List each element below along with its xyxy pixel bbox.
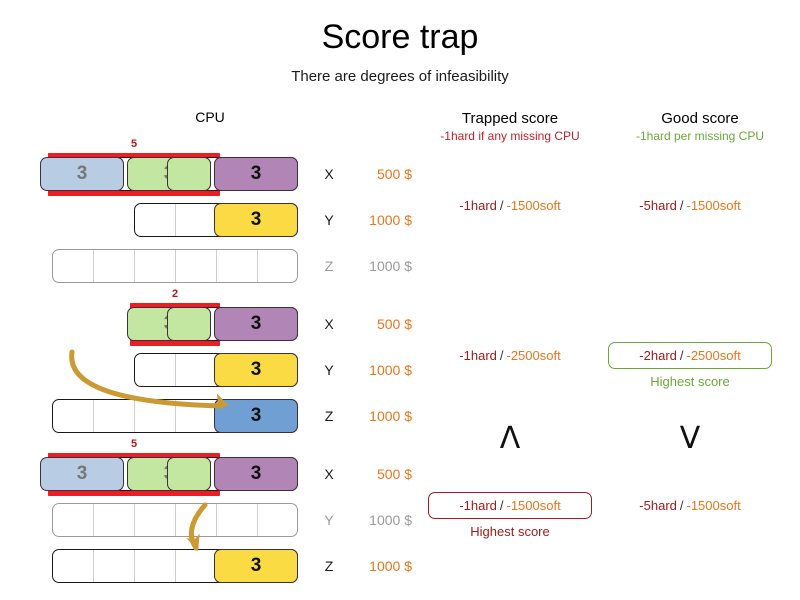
score-separator: / — [677, 198, 687, 213]
machine-cost: 1000 $ — [340, 399, 412, 433]
page-subtitle: There are degrees of infeasibility — [0, 68, 800, 85]
trapped-score-rule: -1hard if any missing CPU — [400, 128, 620, 145]
soft-score: -2500soft — [507, 348, 561, 363]
page-title: Score trap — [0, 18, 800, 57]
cpu-slot — [135, 204, 176, 236]
hard-score: -1hard — [459, 198, 497, 213]
machine-bar[interactable] — [52, 503, 298, 537]
machine-label-y: Y — [318, 353, 340, 387]
process-block[interactable]: 3 — [214, 203, 298, 237]
comparator-caret-trapped: Λ — [470, 424, 550, 454]
cpu-slot — [53, 504, 94, 536]
process-block[interactable]: 3 — [214, 353, 298, 387]
process-block[interactable]: 3 — [40, 157, 124, 191]
soft-score: -2500soft — [687, 348, 741, 363]
machine-label-z: Z — [318, 249, 340, 283]
good-score: -5hard/-1500soft — [600, 498, 780, 513]
good-highest-score-label: Highest score — [600, 374, 780, 389]
cpu-slot — [217, 250, 258, 282]
cpu-slot — [53, 550, 94, 582]
process-block[interactable]: 3 — [214, 157, 298, 191]
cpu-slot — [135, 250, 176, 282]
process-block[interactable]: 3 — [214, 399, 298, 433]
trapped-highest-score-label: Highest score — [420, 524, 600, 539]
cpu-slot — [176, 204, 217, 236]
cpu-slot — [176, 354, 217, 386]
score-separator: / — [677, 348, 687, 363]
machine-label-x: X — [318, 157, 340, 191]
cpu-slot — [258, 250, 298, 282]
machine-cost: 500 $ — [340, 307, 412, 341]
score-separator: / — [677, 498, 687, 513]
machine-cost: 500 $ — [340, 157, 412, 191]
process-block[interactable]: 3 — [214, 549, 298, 583]
cpu-slot — [94, 550, 135, 582]
machine-row-z: Z1000 $ — [0, 244, 800, 290]
machine-row-x: 5333X500 $ — [0, 452, 800, 498]
machine-cost: 1000 $ — [340, 203, 412, 237]
cpu-slot — [217, 504, 258, 536]
score-separator: / — [497, 348, 507, 363]
cpu-slot — [176, 400, 217, 432]
process-block-overflow[interactable] — [167, 157, 211, 191]
cpu-slot — [94, 250, 135, 282]
capacity-overload-label: 5 — [114, 438, 154, 450]
hard-score: -1hard — [459, 498, 497, 513]
soft-score: -1500soft — [507, 498, 561, 513]
good-score-highlighted: -2hard/-2500soft — [608, 342, 772, 369]
hard-score: -2hard — [639, 348, 677, 363]
capacity-overload-label: 2 — [155, 288, 195, 300]
process-block[interactable]: 3 — [214, 457, 298, 491]
cpu-slot — [258, 504, 298, 536]
machine-label-y: Y — [318, 203, 340, 237]
trapped-score: -1hard/-1500soft — [420, 198, 600, 213]
capacity-overload-label: 5 — [114, 138, 154, 150]
machine-cost: 1000 $ — [340, 249, 412, 283]
process-block-overflow[interactable] — [167, 457, 211, 491]
cpu-slot — [135, 354, 176, 386]
trapped-score-highlighted: -1hard/-1500soft — [428, 492, 592, 519]
cpu-slot — [94, 400, 135, 432]
machine-label-z: Z — [318, 399, 340, 433]
cpu-slot — [176, 504, 217, 536]
column-header-trapped-score: Trapped score -1hard if any missing CPU — [400, 109, 620, 145]
cpu-slot — [135, 400, 176, 432]
machine-label-x: X — [318, 307, 340, 341]
good-score: -5hard/-1500soft — [600, 198, 780, 213]
column-header-cpu: CPU — [120, 109, 300, 125]
good-score-title: Good score — [600, 109, 800, 128]
process-block[interactable]: 3 — [214, 307, 298, 341]
machine-label-z: Z — [318, 549, 340, 583]
comparator-caret-good: V — [650, 424, 730, 454]
hard-score: -1hard — [459, 348, 497, 363]
process-block[interactable]: 3 — [40, 457, 124, 491]
hard-score: -5hard — [639, 498, 677, 513]
machine-cost: 500 $ — [340, 457, 412, 491]
machine-row-z: 3Z1000 $ — [0, 544, 800, 590]
soft-score: -1500soft — [687, 198, 741, 213]
machine-cost: 1000 $ — [340, 549, 412, 583]
soft-score: -1500soft — [687, 498, 741, 513]
cpu-slot — [94, 504, 135, 536]
cpu-slot — [53, 250, 94, 282]
machine-label-x: X — [318, 457, 340, 491]
trapped-score: -1hard/-2500soft — [420, 348, 600, 363]
hard-score: -5hard — [639, 198, 677, 213]
column-header-good-score: Good score -1hard per missing CPU — [600, 109, 800, 145]
trapped-score-title: Trapped score — [400, 109, 620, 128]
cpu-slot — [135, 550, 176, 582]
machine-cost: 1000 $ — [340, 503, 412, 537]
score-separator: / — [497, 198, 507, 213]
cpu-slot — [176, 550, 217, 582]
machine-label-y: Y — [318, 503, 340, 537]
process-block-overflow[interactable] — [167, 307, 211, 341]
cpu-slot — [176, 250, 217, 282]
machine-cost: 1000 $ — [340, 353, 412, 387]
cpu-slot — [135, 504, 176, 536]
machine-bar[interactable] — [52, 249, 298, 283]
score-separator: / — [497, 498, 507, 513]
soft-score: -1500soft — [507, 198, 561, 213]
machine-row-x: 5333X500 $ — [0, 152, 800, 198]
good-score-rule: -1hard per missing CPU — [600, 128, 800, 145]
cpu-slot — [53, 400, 94, 432]
